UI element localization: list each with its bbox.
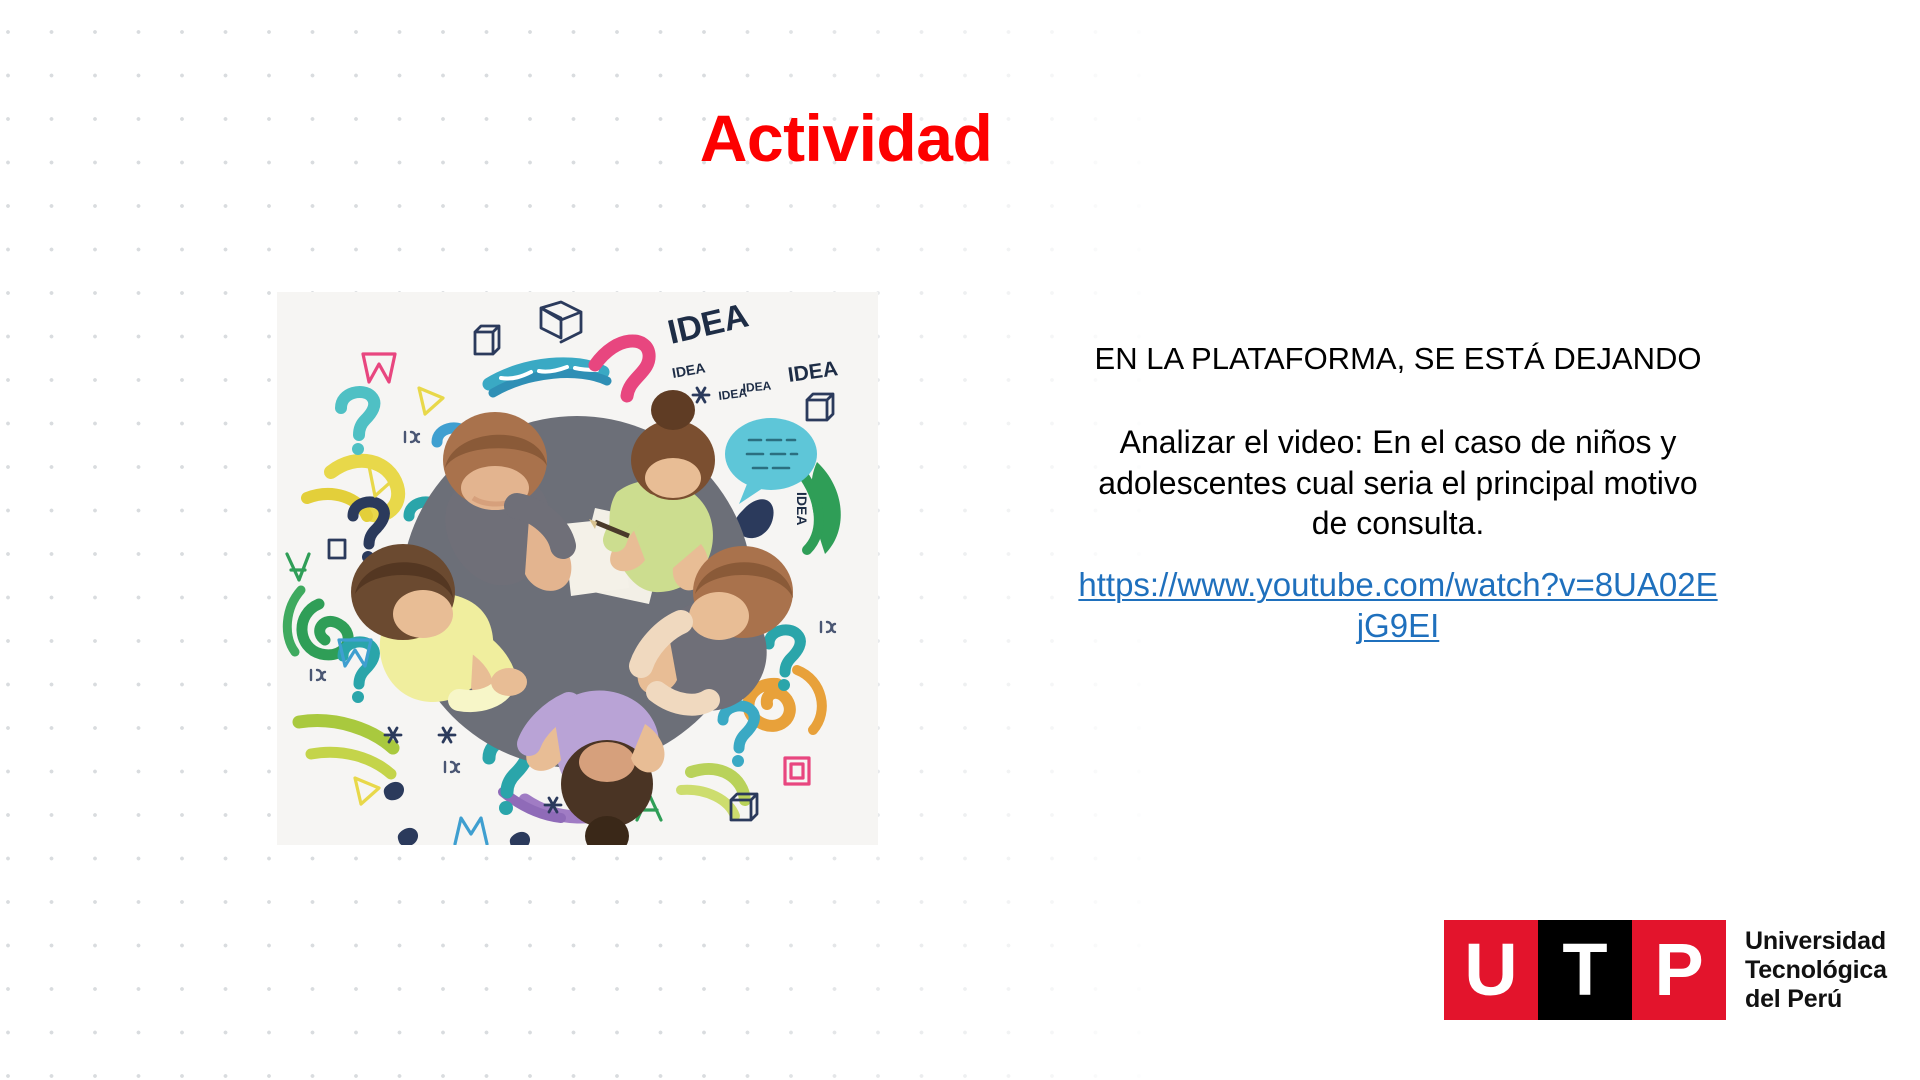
utp-logo: U T P Universidad Tecnológica del Perú — [1444, 920, 1887, 1020]
doodle-word-idea: IDEA — [794, 492, 810, 525]
slide-canvas: Actividad — [0, 0, 1920, 1080]
utp-wordmark-line-3: del Perú — [1745, 985, 1887, 1014]
doodle-word-idea: IDEA — [742, 379, 772, 395]
utp-wordmark-line-2: Tecnológica — [1745, 956, 1887, 985]
page-title: Actividad — [0, 104, 1806, 173]
utp-letter-u: U — [1444, 920, 1538, 1020]
brainstorm-illustration: IDEA IDEA IDEA IDEA IDEA IDEA — [277, 292, 878, 845]
utp-wordmark-line-1: Universidad — [1745, 927, 1887, 956]
utp-logo-mark: U T P — [1444, 920, 1726, 1020]
utp-wordmark: Universidad Tecnológica del Perú — [1745, 920, 1887, 1020]
body-text-column: EN LA PLATAFORMA, SE ESTÁ DEJANDO Analiz… — [1078, 340, 1718, 646]
paragraph-analizar: Analizar el video: En el caso de niños y… — [1078, 422, 1718, 543]
paragraph-plataforma: EN LA PLATAFORMA, SE ESTÁ DEJANDO — [1078, 340, 1718, 378]
brainstorm-illustration-graphic: IDEA IDEA IDEA IDEA IDEA IDEA — [277, 292, 878, 845]
utp-letter-t: T — [1538, 920, 1632, 1020]
utp-letter-p: P — [1632, 920, 1726, 1020]
youtube-video-link[interactable]: https://www.youtube.com/watch?v=8UA02EjG… — [1078, 566, 1717, 643]
link-row: https://www.youtube.com/watch?v=8UA02EjG… — [1078, 565, 1718, 646]
